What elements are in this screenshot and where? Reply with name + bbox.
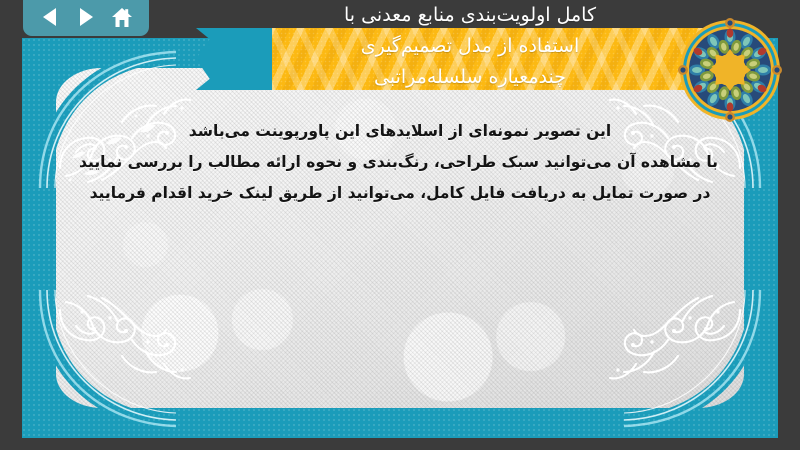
slide-body-text: این تصویر نمونه‌ای از اسلایدهای این پاور… bbox=[82, 116, 718, 209]
prev-button[interactable] bbox=[37, 5, 63, 29]
home-button[interactable] bbox=[109, 5, 135, 29]
title-line-1: کامل اولویت‌بندی منابع معدنی با bbox=[250, 0, 690, 31]
body-line-2: با مشاهده آن می‌توانید سبک طراحی، رنگ‌بن… bbox=[82, 147, 718, 178]
slide-frame: این تصویر نمونه‌ای از اسلایدهای این پاور… bbox=[22, 38, 778, 438]
body-line-3: در صورت تمایل به دریافت فایل کامل، می‌تو… bbox=[82, 178, 718, 209]
triangle-left-icon bbox=[41, 7, 59, 27]
triangle-right-icon bbox=[77, 7, 95, 27]
next-button[interactable] bbox=[73, 5, 99, 29]
body-line-1: این تصویر نمونه‌ای از اسلایدهای این پاور… bbox=[82, 116, 718, 147]
home-icon bbox=[111, 7, 133, 28]
navigation-bar bbox=[23, 0, 149, 36]
